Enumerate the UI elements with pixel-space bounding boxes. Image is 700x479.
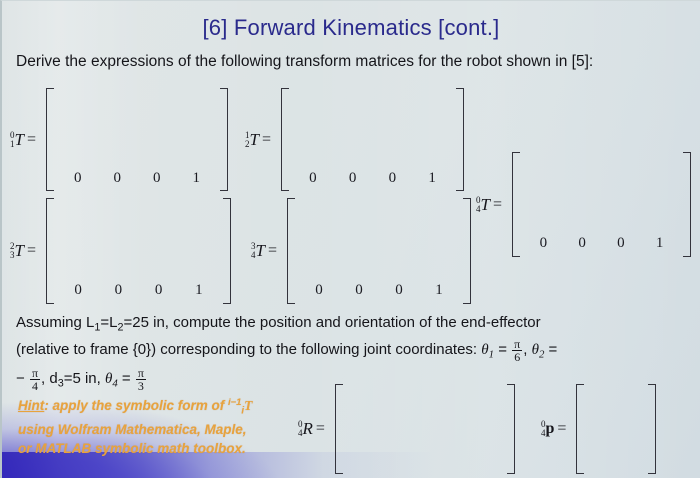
hint-label: Hint: [18, 398, 44, 413]
assumption-line-1: Assuming L1=L2=25 in, compute the positi…: [16, 312, 557, 338]
matrix-T12-cell-3-2[interactable]: 0: [389, 170, 397, 187]
matrix-T01-symbol: T: [15, 130, 24, 150]
matrix-T34-symbol: T: [256, 241, 265, 261]
matrix-T34-cell-3-2[interactable]: 0: [395, 282, 403, 299]
matrix-p04: 0 4 p =: [541, 384, 663, 474]
matrix-R04-grid: [343, 384, 507, 474]
matrix-T04-cell-3-2[interactable]: 0: [617, 235, 625, 252]
matrix-T23-cell-3-3[interactable]: 1: [195, 282, 203, 299]
slide-canvas: [6] Forward Kinematics [cont.] Derive th…: [0, 0, 700, 478]
hint-text: Hint: apply the symbolic form of i−1iT u…: [18, 393, 252, 458]
bracket-left: [281, 88, 289, 191]
bracket-right: [456, 88, 464, 191]
matrix-T01-bracket: 0001: [39, 83, 235, 196]
bracket-left: [46, 198, 54, 304]
matrix-T04-equals: =: [493, 196, 502, 214]
matrix-p04-label: 0 4 p =: [541, 420, 566, 438]
matrix-T01-cell-3-2[interactable]: 0: [153, 170, 161, 187]
assumption-line-2: (relative to frame {0}) corresponding to…: [16, 338, 557, 365]
matrix-T23-grid: 0001: [54, 198, 223, 304]
matrix-T23-bracket: 0001: [39, 193, 238, 309]
bracket-left: [335, 384, 343, 474]
bracket-left: [576, 384, 584, 474]
matrix-R04: 0 4 R =: [298, 384, 522, 474]
matrix-T23-equals: =: [27, 242, 36, 260]
fraction-pi-over-6: π6: [512, 338, 522, 363]
matrix-T12-cell-3-3[interactable]: 1: [428, 170, 436, 187]
bracket-left: [287, 198, 295, 304]
matrix-T12-cell-3-0[interactable]: 0: [309, 170, 317, 187]
matrix-T04-bracket: 0001: [505, 147, 698, 262]
matrix-p04-bracket: [569, 379, 663, 479]
matrix-T04-symbol: T: [481, 195, 490, 215]
matrix-R04-bracket: [328, 379, 522, 479]
matrix-T34-cell-3-1[interactable]: 0: [355, 282, 363, 299]
matrix-p04-symbol: p: [546, 420, 555, 438]
matrix-R04-equals: =: [316, 420, 325, 438]
matrix-T12-label: 1 2 T =: [245, 130, 271, 150]
matrix-T12-grid: 0001: [289, 88, 456, 191]
matrix-T04: 0 4 T = 0001: [476, 152, 698, 257]
matrix-T23-symbol: T: [15, 241, 24, 261]
matrix-T01: 0 1 T = 0001: [10, 88, 235, 191]
matrix-T12: 1 2 T = 0001: [245, 88, 471, 191]
matrix-T12-bracket: 0001: [274, 83, 471, 196]
matrix-T01-label: 0 1 T =: [10, 130, 36, 150]
matrix-T23-cell-3-1[interactable]: 0: [115, 282, 123, 299]
matrix-T34-cell-3-3[interactable]: 1: [435, 282, 443, 299]
bracket-right: [507, 384, 515, 474]
matrix-R04-symbol: R: [303, 419, 313, 439]
page-title: [6] Forward Kinematics [cont.]: [2, 15, 700, 41]
matrix-T01-equals: =: [27, 131, 36, 149]
matrix-T12-cell-3-1[interactable]: 0: [349, 170, 357, 187]
matrix-T34-equals: =: [268, 242, 277, 260]
matrix-T23-cell-3-0[interactable]: 0: [74, 282, 82, 299]
fraction-pi-over-3: π3: [136, 367, 146, 392]
matrix-T34-cell-3-0[interactable]: 0: [315, 282, 323, 299]
matrix-T34: 3 4 T = 0001: [251, 198, 478, 304]
bracket-left: [512, 152, 520, 257]
fraction-pi-over-4: π4: [30, 367, 40, 392]
matrix-T04-cell-3-3[interactable]: 1: [656, 235, 664, 252]
matrix-p04-grid: [584, 384, 648, 474]
bracket-right: [683, 152, 691, 257]
matrix-R04-label: 0 4 R =: [298, 419, 325, 439]
matrix-T04-cell-3-0[interactable]: 0: [540, 235, 548, 252]
matrix-T34-label: 3 4 T =: [251, 241, 277, 261]
hint-line-2: using Wolfram Mathematica, Maple,: [18, 420, 252, 439]
matrix-T01-grid: 0001: [54, 88, 220, 191]
bracket-right: [463, 198, 471, 304]
matrix-T04-grid: 0001: [520, 152, 683, 257]
matrix-T04-label: 0 4 T =: [476, 195, 502, 215]
bracket-right: [223, 198, 231, 304]
matrix-T04-cell-3-1[interactable]: 0: [578, 235, 586, 252]
prompt-line-1: Derive the expressions of the following …: [16, 53, 593, 71]
matrix-T01-cell-3-1[interactable]: 0: [114, 170, 122, 187]
matrix-T23: 2 3 T = 0001: [10, 198, 238, 304]
matrix-T23-cell-3-2[interactable]: 0: [155, 282, 163, 299]
matrix-T12-symbol: T: [250, 130, 259, 150]
bracket-left: [46, 88, 54, 191]
matrix-p04-equals: =: [557, 420, 566, 438]
matrix-T23-label: 2 3 T =: [10, 241, 36, 261]
matrix-T34-grid: 0001: [295, 198, 463, 304]
matrix-T01-cell-3-0[interactable]: 0: [74, 170, 82, 187]
hint-line-3: or MATLAB symbolic math toolbox.: [18, 439, 252, 458]
matrix-T12-equals: =: [262, 131, 271, 149]
bracket-right: [220, 88, 228, 191]
bracket-right: [648, 384, 656, 474]
matrix-T34-bracket: 0001: [280, 193, 478, 309]
hint-line-1: Hint: apply the symbolic form of i−1iT: [18, 393, 252, 420]
matrix-T01-cell-3-3[interactable]: 1: [193, 170, 201, 187]
